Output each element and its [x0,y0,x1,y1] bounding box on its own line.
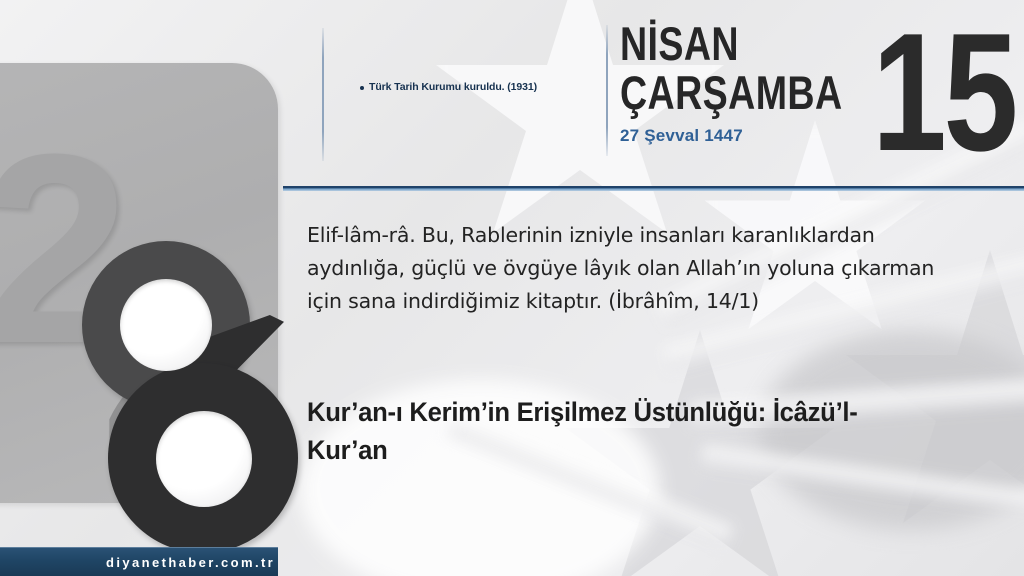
verse-text: Elif-lâm-râ. Bu, Rablerinin izniyle insa… [307,219,957,319]
historical-event-text: Türk Tarih Kurumu kuruldu. (1931) [369,81,537,94]
year-panel: 2 2 [0,63,278,503]
day-number: 15 [872,8,1015,176]
year-logo-2026: 2 2 [0,63,278,503]
bullet-dot-icon [360,86,364,90]
article-headline: Kur’an-ı Kerim’in Erişilmez Üstünlüğü: İ… [307,393,925,470]
year-digit-0-counter [120,279,212,371]
site-url: diyanethaber.com.tr [106,555,275,570]
footer-bar[interactable]: diyanethaber.com.tr [0,547,278,576]
header-divider-right [606,25,608,156]
date-block: NİSAN ÇARŞAMBA 27 Şevval 1447 [620,22,890,146]
weekday-name: ÇARŞAMBA [620,71,836,114]
header-horizontal-rule [283,186,1024,191]
calendar-page: 2 2 Türk Tarih Kurumu kuruldu. (1931) Nİ… [0,0,1024,576]
historical-event: Türk Tarih Kurumu kuruldu. (1931) [360,81,590,94]
hijri-date: 27 Şevval 1447 [620,126,890,146]
year-digit-6-counter [156,411,252,507]
header-divider-left [322,28,324,161]
month-name: NİSAN [620,22,836,65]
